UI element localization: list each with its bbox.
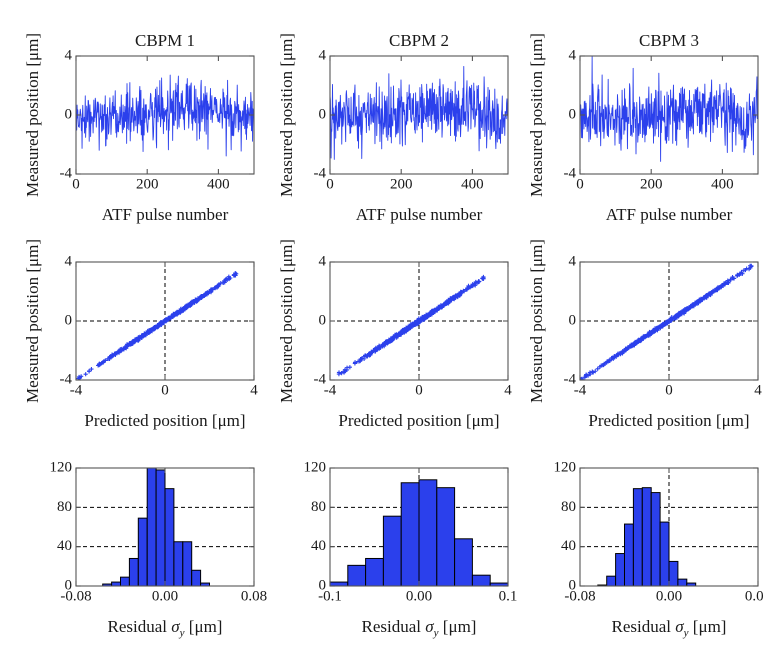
- histogram-bar: [678, 579, 687, 586]
- figure-panel-grid: 0200400-404CBPM 1ATF pulse numberMeasure…: [0, 0, 763, 654]
- data-layer: [598, 488, 696, 586]
- y-tick-label: 0: [569, 577, 577, 593]
- x-tick-label: 0.08: [745, 589, 763, 605]
- y-tick-label: 80: [561, 499, 576, 515]
- x-axis-title: Residual σy [μm]: [612, 617, 727, 639]
- histogram-bar: [616, 554, 625, 586]
- histogram-bar: [633, 489, 642, 586]
- histogram-bar: [607, 576, 616, 586]
- y-tick-label: 120: [554, 459, 577, 475]
- chart-panel-hist-cbpm3: -0.080.000.0804080120Residual σy [μm]: [0, 0, 763, 654]
- x-tick-label: 0.00: [656, 589, 682, 605]
- histogram-bar: [651, 493, 660, 586]
- y-tick-label: 40: [561, 538, 576, 554]
- histogram-bar: [669, 561, 678, 586]
- histogram-bar: [642, 488, 651, 586]
- histogram-bar: [660, 522, 669, 586]
- histogram-bar: [625, 524, 634, 586]
